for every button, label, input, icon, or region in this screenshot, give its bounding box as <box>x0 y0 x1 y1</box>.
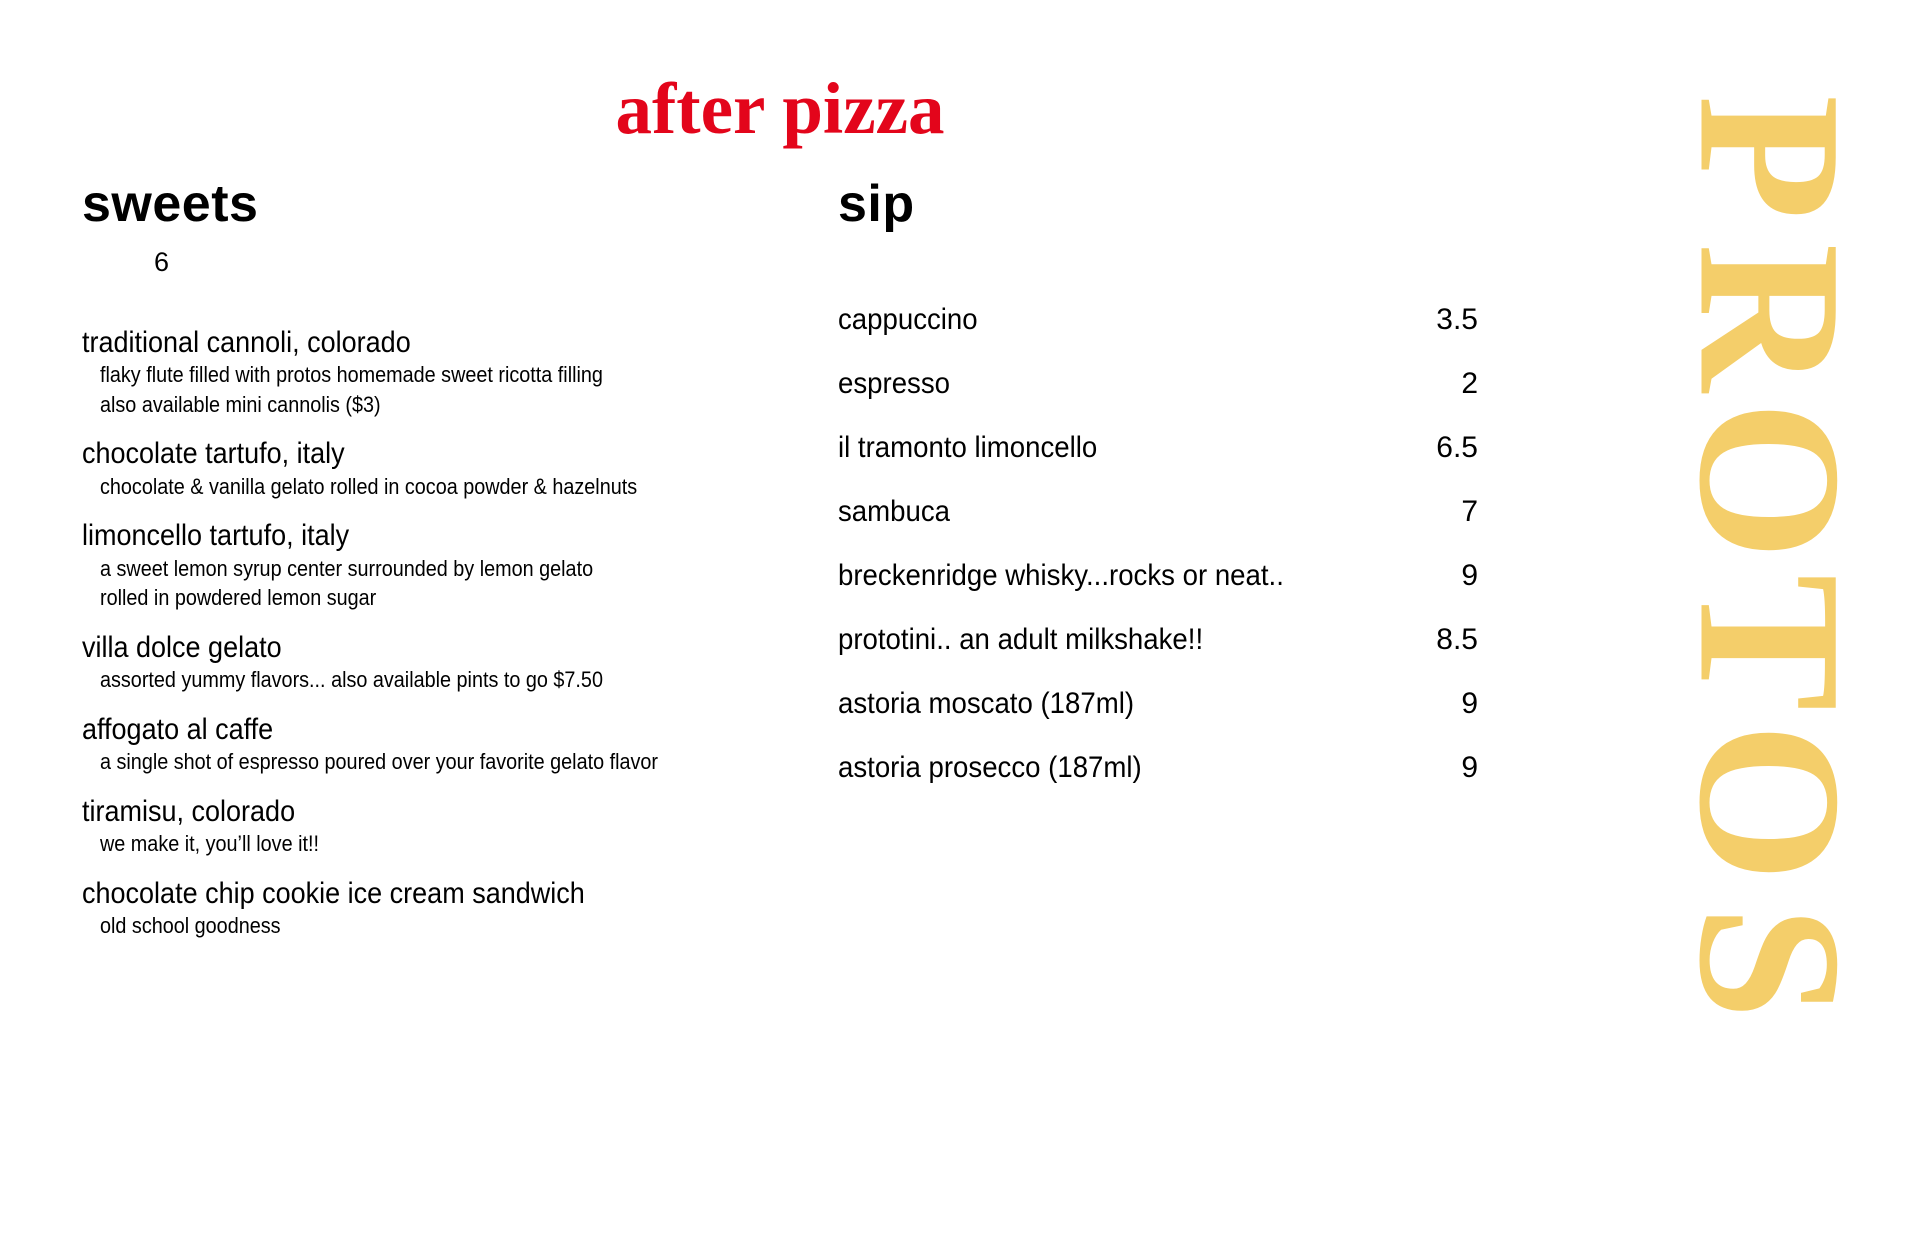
sweets-item-description: old school goodness <box>100 912 714 941</box>
watermark-letter: P <box>1668 95 1873 220</box>
sweets-item-description: we make it, you’ll love it!! <box>100 830 714 859</box>
sip-item: sambuca7 <box>838 494 1478 558</box>
sip-item-price: 8.5 <box>1436 622 1478 658</box>
sip-item-price: 9 <box>1461 558 1478 594</box>
sweets-item-description: rolled in powdered lemon sugar <box>100 584 714 613</box>
sweets-item-description: also available mini cannolis ($3) <box>100 391 714 420</box>
sweets-item: chocolate chip cookie ice cream sandwich… <box>82 876 782 941</box>
sweets-item-name: villa dolce gelato <box>82 630 712 665</box>
sip-section: sip cappuccino3.5espresso2il tramonto li… <box>838 176 1478 814</box>
sweets-item-name: affogato al caffe <box>82 712 712 747</box>
watermark-letter: R <box>1668 243 1873 391</box>
protos-watermark: PROTOS <box>1620 0 1920 1243</box>
menu-title: after pizza <box>0 72 1560 145</box>
sweets-item-description: assorted yummy flavors... also available… <box>100 666 714 695</box>
sip-item-name: cappuccino <box>838 302 978 338</box>
sweets-section-price: 6 <box>154 246 782 278</box>
sip-item: espresso2 <box>838 366 1478 430</box>
sweets-item-description: a sweet lemon syrup center surrounded by… <box>100 555 714 584</box>
sip-item-name: espresso <box>838 366 950 402</box>
sweets-item-description: a single shot of espresso poured over yo… <box>100 748 714 777</box>
sip-heading: sip <box>838 176 1478 232</box>
sweets-item: chocolate tartufo, italychocolate & vani… <box>82 436 782 501</box>
sip-item-name: il tramonto limoncello <box>838 430 1097 466</box>
sip-item-price: 9 <box>1461 750 1478 786</box>
watermark-letter: T <box>1668 574 1873 711</box>
sip-item-name: prototini.. an adult milkshake!! <box>838 622 1203 658</box>
sip-item-name: sambuca <box>838 494 950 530</box>
sweets-item-name: chocolate tartufo, italy <box>82 436 712 471</box>
sip-item-price: 7 <box>1461 494 1478 530</box>
sweets-item-list: traditional cannoli, coloradoflaky flute… <box>82 325 782 941</box>
sip-item-price: 9 <box>1461 686 1478 722</box>
sip-item-name: astoria moscato (187ml) <box>838 686 1134 722</box>
sip-item-name: astoria prosecco (187ml) <box>838 750 1142 786</box>
sweets-item-name: chocolate chip cookie ice cream sandwich <box>82 876 712 911</box>
sip-item-price: 3.5 <box>1436 302 1478 338</box>
sip-item-price: 2 <box>1461 366 1478 402</box>
sweets-item: limoncello tartufo, italya sweet lemon s… <box>82 518 782 613</box>
sip-item-price: 6.5 <box>1436 430 1478 466</box>
sweets-heading: sweets <box>82 176 782 232</box>
sip-item: il tramonto limoncello6.5 <box>838 430 1478 494</box>
sweets-item-description: flaky flute filled with protos homemade … <box>100 361 714 390</box>
sip-item: astoria prosecco (187ml)9 <box>838 750 1478 814</box>
watermark-letter: O <box>1668 401 1873 560</box>
sweets-item-name: traditional cannoli, colorado <box>82 325 712 360</box>
sweets-item-description: chocolate & vanilla gelato rolled in coc… <box>100 473 714 502</box>
sip-item: prototini.. an adult milkshake!!8.5 <box>838 622 1478 686</box>
sip-item: cappuccino3.5 <box>838 302 1478 366</box>
sip-item: breckenridge whisky...rocks or neat..9 <box>838 558 1478 622</box>
sip-item-list: cappuccino3.5espresso2il tramonto limonc… <box>838 302 1478 814</box>
watermark-letter: S <box>1668 905 1873 1019</box>
sip-item: astoria moscato (187ml)9 <box>838 686 1478 750</box>
sweets-item-name: tiramisu, colorado <box>82 794 712 829</box>
sweets-item: affogato al caffea single shot of espres… <box>82 712 782 777</box>
sweets-item: tiramisu, coloradowe make it, you’ll lov… <box>82 794 782 859</box>
sweets-item: villa dolce gelatoassorted yummy flavors… <box>82 630 782 695</box>
sip-item-name: breckenridge whisky...rocks or neat.. <box>838 558 1284 594</box>
sweets-section: sweets 6 traditional cannoli, coloradofl… <box>82 176 782 958</box>
sweets-item-name: limoncello tartufo, italy <box>82 518 712 553</box>
watermark-letter: O <box>1668 723 1873 882</box>
sweets-item: traditional cannoli, coloradoflaky flute… <box>82 325 782 420</box>
